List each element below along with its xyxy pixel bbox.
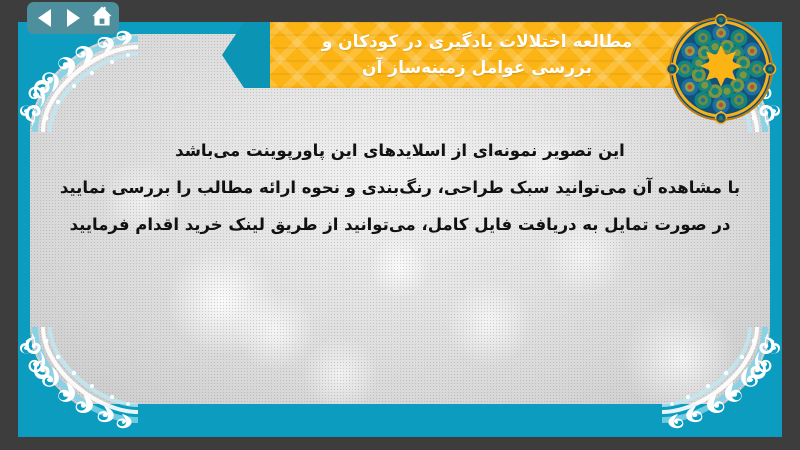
slide-body-text: این تصویر نمونه‌ای از اسلایدهای این پاور… bbox=[40, 132, 760, 243]
persian-corner-filigree-icon bbox=[662, 327, 782, 437]
body-line-1: این تصویر نمونه‌ای از اسلایدهای این پاور… bbox=[40, 132, 760, 169]
persian-corner-filigree-icon bbox=[18, 22, 138, 132]
navigation-bar bbox=[27, 2, 119, 34]
page-title: مطالعه اختلالات یادگیری در کودکان و بررس… bbox=[222, 22, 732, 88]
home-button[interactable] bbox=[91, 7, 113, 29]
slide-viewer: این تصویر نمونه‌ای از اسلایدهای این پاور… bbox=[0, 0, 800, 450]
persian-medallion-ornament-icon bbox=[665, 13, 777, 125]
home-icon bbox=[91, 6, 113, 31]
title-line-2: بررسی عوامل زمینه‌ساز آن bbox=[362, 55, 592, 81]
body-line-2: با مشاهده آن می‌توانید سبک طراحی، رنگ‌بن… bbox=[40, 169, 760, 206]
title-line-1: مطالعه اختلالات یادگیری در کودکان و bbox=[322, 29, 633, 55]
next-slide-button[interactable] bbox=[62, 7, 84, 29]
triangle-right-icon bbox=[67, 9, 80, 27]
prev-slide-button[interactable] bbox=[33, 7, 55, 29]
slide-title-banner: مطالعه اختلالات یادگیری در کودکان و بررس… bbox=[222, 22, 732, 88]
body-line-3: در صورت تمایل به دریافت فایل کامل، می‌تو… bbox=[40, 206, 760, 243]
persian-corner-filigree-icon bbox=[18, 327, 138, 437]
triangle-left-icon bbox=[38, 9, 51, 27]
